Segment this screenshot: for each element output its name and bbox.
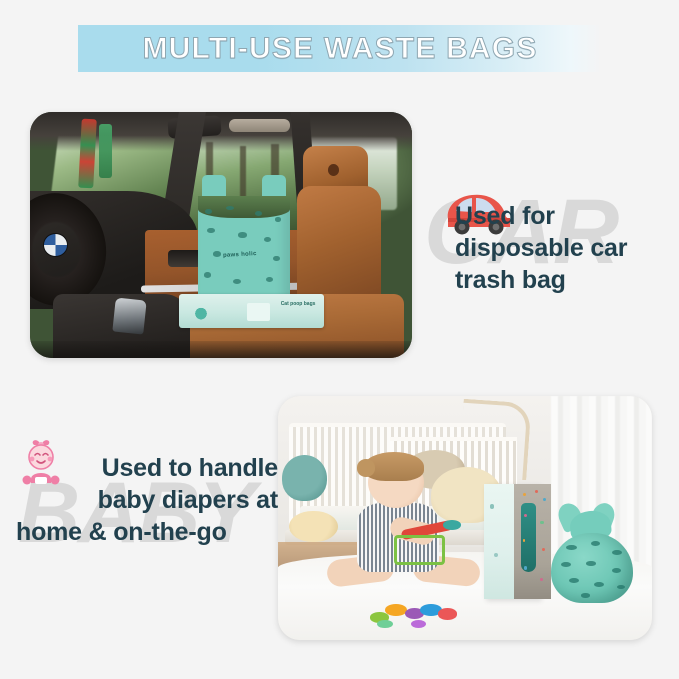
- seat-backrest: [297, 186, 381, 309]
- box-illustration: [247, 303, 270, 321]
- plush-toy: [289, 511, 338, 543]
- box-label-text: Cat poop bags: [281, 301, 316, 307]
- plush-toy: [282, 455, 327, 501]
- caption-baby: Used to handlebaby diapers athome & on-t…: [16, 452, 278, 548]
- box-pattern: [484, 484, 551, 599]
- photo-vignette: [30, 341, 412, 358]
- hanging-ornament: [99, 124, 112, 178]
- photo-nursery: [278, 396, 652, 640]
- caption-baby-line2: baby diapers at: [98, 486, 278, 514]
- product-box-in-car: Cat poop bags: [179, 294, 324, 328]
- grab-handle: [229, 119, 290, 131]
- caption-baby-line3: home & on-the-go: [16, 516, 278, 548]
- caption-baby-line1: Used to handle: [102, 454, 278, 482]
- caption-car: Used for disposable car trash bag: [455, 200, 677, 296]
- baby-ponytail: [357, 459, 376, 476]
- scattered-toys: [368, 599, 465, 628]
- car-photo-background: paws holic Cat poop bags: [30, 112, 412, 358]
- tied-bag-pattern: [551, 533, 633, 604]
- photo-car-interior: paws holic Cat poop bags: [30, 112, 412, 358]
- baby-toy-ring: [394, 535, 445, 565]
- paw-print-icon: [193, 304, 209, 319]
- bmw-badge-icon: [43, 233, 68, 257]
- poster-canvas: MULTI-USE WASTE BAGS: [0, 0, 679, 679]
- baby-photo-background: [278, 396, 652, 640]
- gear-shifter: [112, 297, 146, 334]
- page-title: MULTI-USE WASTE BAGS: [78, 25, 602, 72]
